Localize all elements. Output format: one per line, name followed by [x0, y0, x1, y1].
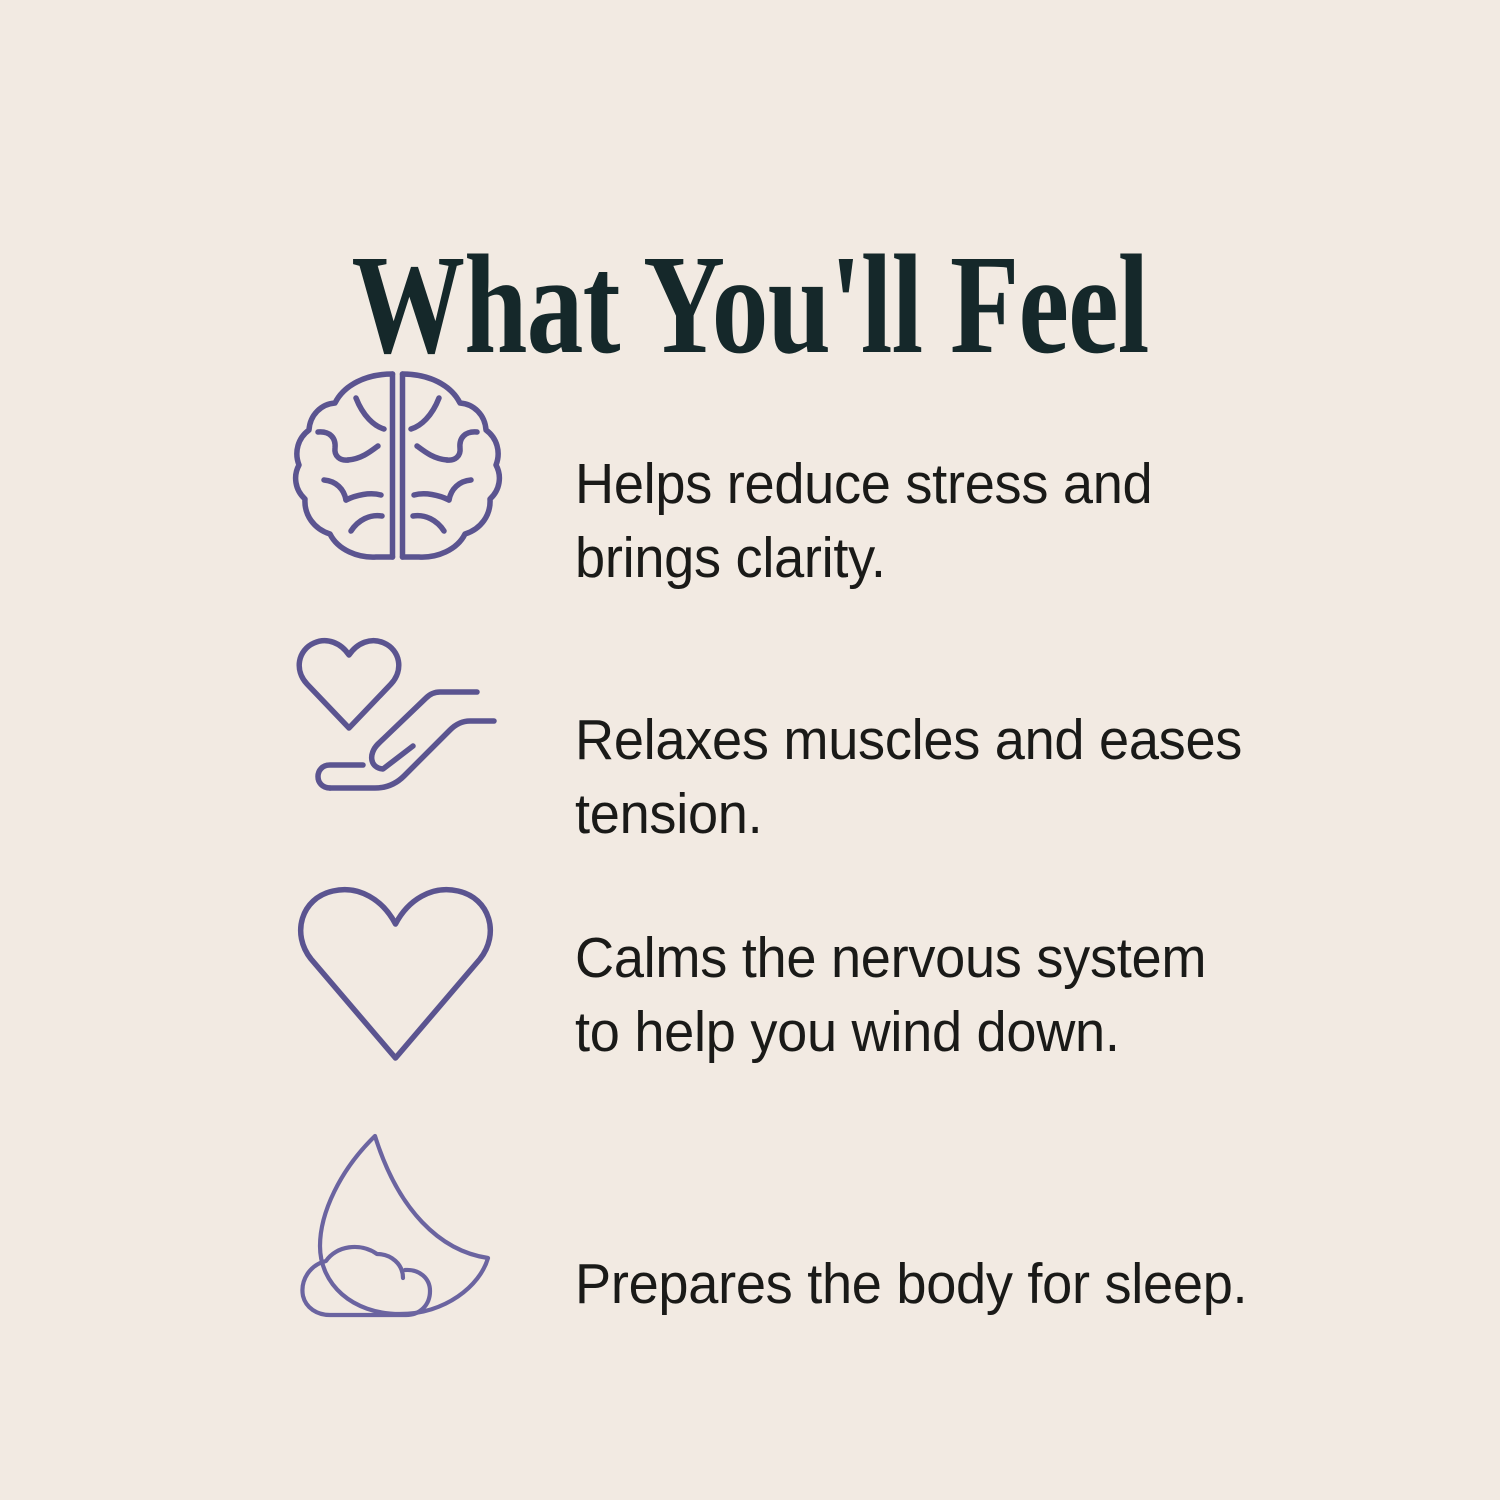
- heart-in-hand-icon: [292, 636, 502, 816]
- moon-cloud-icon: [280, 1118, 520, 1328]
- benefit-text: Calms the nervous system to help you win…: [575, 921, 1259, 1069]
- benefit-item-moon-cloud: Prepares the body for sleep.: [0, 1108, 1500, 1323]
- benefit-item-heart: Calms the nervous system to help you win…: [0, 860, 1500, 1070]
- benefit-item-brain: Helps reduce stress and brings clarity.: [0, 360, 1500, 570]
- benefit-text: Helps reduce stress and brings clarity.: [575, 447, 1259, 595]
- benefit-text: Prepares the body for sleep.: [575, 1247, 1259, 1321]
- benefit-item-heart-in-hand: Relaxes muscles and eases tension.: [0, 618, 1500, 818]
- brain-icon: [288, 368, 503, 568]
- benefit-text: Relaxes muscles and eases tension.: [575, 703, 1259, 851]
- benefits-infographic: What You'll Feel: [0, 0, 1500, 1500]
- heart-icon: [293, 884, 498, 1069]
- page-title: What You'll Feel: [150, 233, 1350, 375]
